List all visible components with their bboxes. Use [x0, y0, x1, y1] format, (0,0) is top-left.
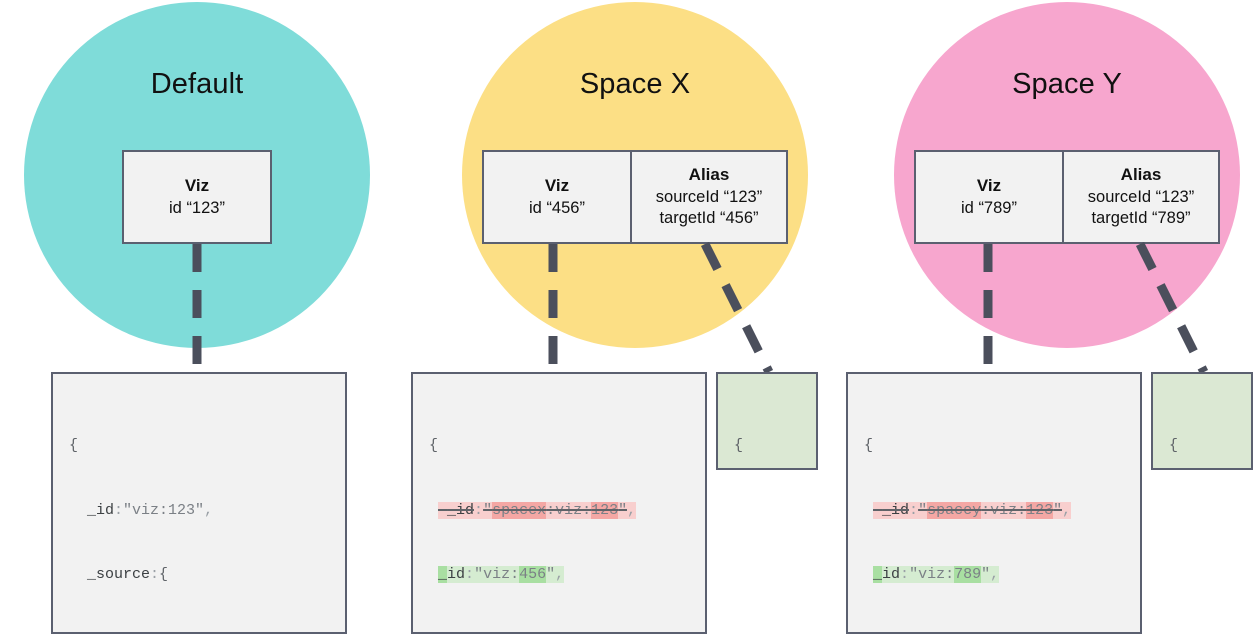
entity-name-label: Viz: [977, 175, 1001, 198]
entity-group-spacey: Viz id “789” Alias sourceId “123” target…: [914, 150, 1220, 244]
diagram-canvas: Default Viz id “123” { _id:"viz:123", _s…: [0, 0, 1260, 642]
entity-alias-spacey[interactable]: Alias sourceId “123” targetId “789”: [1062, 152, 1218, 242]
entity-group-spacex: Viz id “456” Alias sourceId “123” target…: [482, 150, 788, 244]
space-title-spacey: Space Y: [894, 68, 1240, 101]
code-line-added: _id:"viz:789",: [864, 564, 1126, 586]
entity-attr-id: id “456”: [529, 198, 585, 219]
entity-viz-spacex[interactable]: Viz id “456”: [484, 152, 630, 242]
entity-attr-targetid: targetId “456”: [659, 208, 758, 229]
code-line: {: [734, 435, 802, 457]
code-line: _id:"viz:123",: [69, 500, 331, 522]
code-line-added: _id:"viz:456",: [429, 564, 691, 586]
code-line: _source:{: [429, 629, 691, 635]
space-title-default: Default: [24, 68, 370, 101]
code-panel-spacex: { _id:"spacex:viz:123", _id:"viz:456", _…: [411, 372, 707, 634]
entity-attr-sourceid: sourceId “123”: [656, 187, 762, 208]
code-panel-default: { _id:"viz:123", _source:{ viz:{ title:"…: [51, 372, 347, 634]
entity-group-default: Viz id “123”: [122, 150, 272, 244]
entity-alias-spacex[interactable]: Alias sourceId “123” targetId “456”: [630, 152, 786, 242]
entity-name-label: Viz: [545, 175, 569, 198]
code-line: _source:{: [864, 629, 1126, 635]
code-line: {: [1169, 435, 1237, 457]
entity-name-label: Alias: [1121, 164, 1162, 187]
entity-viz-default[interactable]: Viz id “123”: [124, 152, 270, 242]
code-line: {: [429, 435, 691, 457]
code-line-removed: _id:"spacey:viz:123",: [864, 500, 1126, 522]
code-line-removed: _id:"spacex:viz:123",: [429, 500, 691, 522]
entity-viz-spacey[interactable]: Viz id “789”: [916, 152, 1062, 242]
entity-name-label: Alias: [689, 164, 730, 187]
code-panel-alias-spacey: { ... }: [1151, 372, 1253, 470]
code-panel-alias-spacex: { ... }: [716, 372, 818, 470]
entity-attr-id: id “789”: [961, 198, 1017, 219]
entity-attr-sourceid: sourceId “123”: [1088, 187, 1194, 208]
entity-name-label: Viz: [185, 175, 209, 198]
space-title-spacex: Space X: [462, 68, 808, 101]
code-line: {: [69, 435, 331, 457]
entity-attr-id: id “123”: [169, 198, 225, 219]
code-line: {: [864, 435, 1126, 457]
code-line: _source:{: [69, 564, 331, 586]
code-panel-spacey: { _id:"spacey:viz:123", _id:"viz:789", _…: [846, 372, 1142, 634]
entity-attr-targetid: targetId “789”: [1091, 208, 1190, 229]
code-line: viz:{: [69, 629, 331, 635]
